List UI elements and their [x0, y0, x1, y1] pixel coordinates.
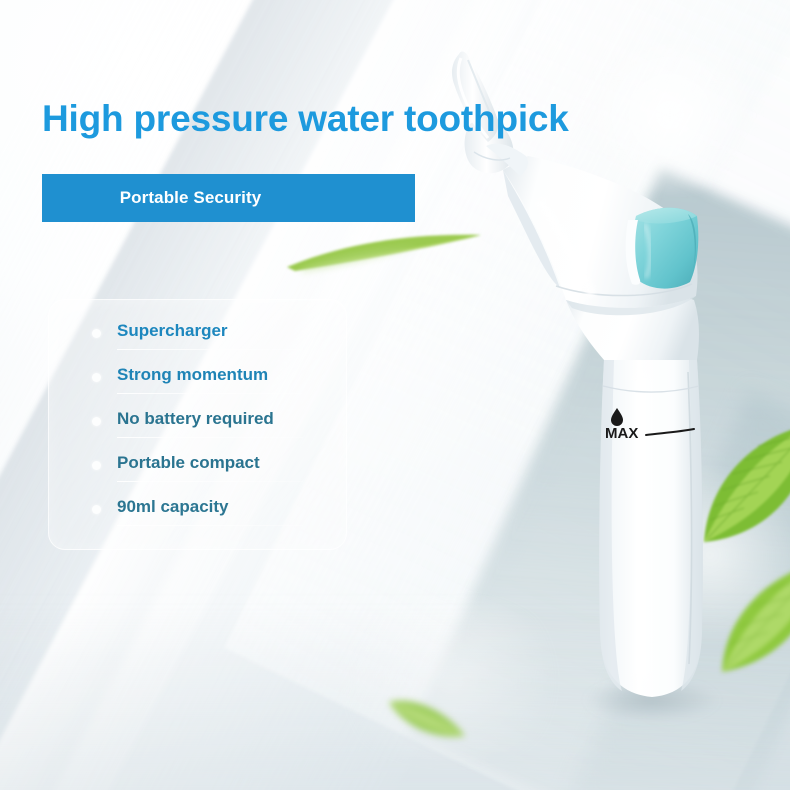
- background-floor-haze: [0, 610, 790, 790]
- feature-item: Supercharger: [49, 316, 346, 360]
- feature-list: Supercharger Strong momentum No battery …: [49, 300, 346, 549]
- bullet-icon: [92, 461, 101, 470]
- max-line: [646, 429, 694, 435]
- feature-underline: [117, 349, 303, 350]
- max-label: MAX: [605, 425, 638, 442]
- bullet-icon: [92, 417, 101, 426]
- feature-label: No battery required: [117, 409, 274, 429]
- cloud-wisp-bottom: [320, 600, 580, 760]
- water-drop-icon: [611, 408, 623, 426]
- leaf-faint-upper: [300, 238, 420, 278]
- feature-card: Supercharger Strong momentum No battery …: [48, 299, 347, 550]
- feature-item: 90ml capacity: [49, 492, 346, 536]
- product-trigger-button: [633, 208, 698, 289]
- background-wedge-grey-2: [537, 391, 790, 790]
- bullet-icon: [92, 373, 101, 382]
- advertisement-canvas: MAX High pressure water toothpick: [0, 0, 790, 790]
- green-blade-decor: [285, 215, 495, 275]
- bullet-icon: [92, 505, 101, 514]
- background-wedge-grey: [409, 168, 790, 790]
- bullet-icon: [92, 329, 101, 338]
- product-trigger-button-top: [636, 208, 697, 224]
- feature-underline: [117, 437, 303, 438]
- cloud-wisp-right: [610, 470, 790, 640]
- subtitle-banner: Portable Security: [42, 174, 415, 222]
- feature-label: Portable compact: [117, 453, 260, 473]
- feature-label: Strong momentum: [117, 365, 268, 385]
- leaf-right-mid: [700, 420, 790, 550]
- feature-item: Strong momentum: [49, 360, 346, 404]
- cloud-wisp-top: [560, 40, 780, 190]
- subtitle-banner-label: Portable Security: [120, 188, 262, 208]
- product-cone-head: [503, 156, 698, 308]
- feature-label: 90ml capacity: [117, 497, 229, 517]
- page-title: High pressure water toothpick: [42, 98, 569, 140]
- feature-underline: [117, 525, 303, 526]
- product-reservoir: [599, 360, 703, 697]
- feature-item: Portable compact: [49, 448, 346, 492]
- feature-item: No battery required: [49, 404, 346, 448]
- feature-underline: [117, 481, 303, 482]
- leaf-floating-bottom: [385, 690, 470, 745]
- feature-underline: [117, 393, 303, 394]
- leaf-right-lower: [716, 556, 790, 676]
- product-neck: [566, 290, 699, 360]
- feature-label: Supercharger: [117, 321, 228, 341]
